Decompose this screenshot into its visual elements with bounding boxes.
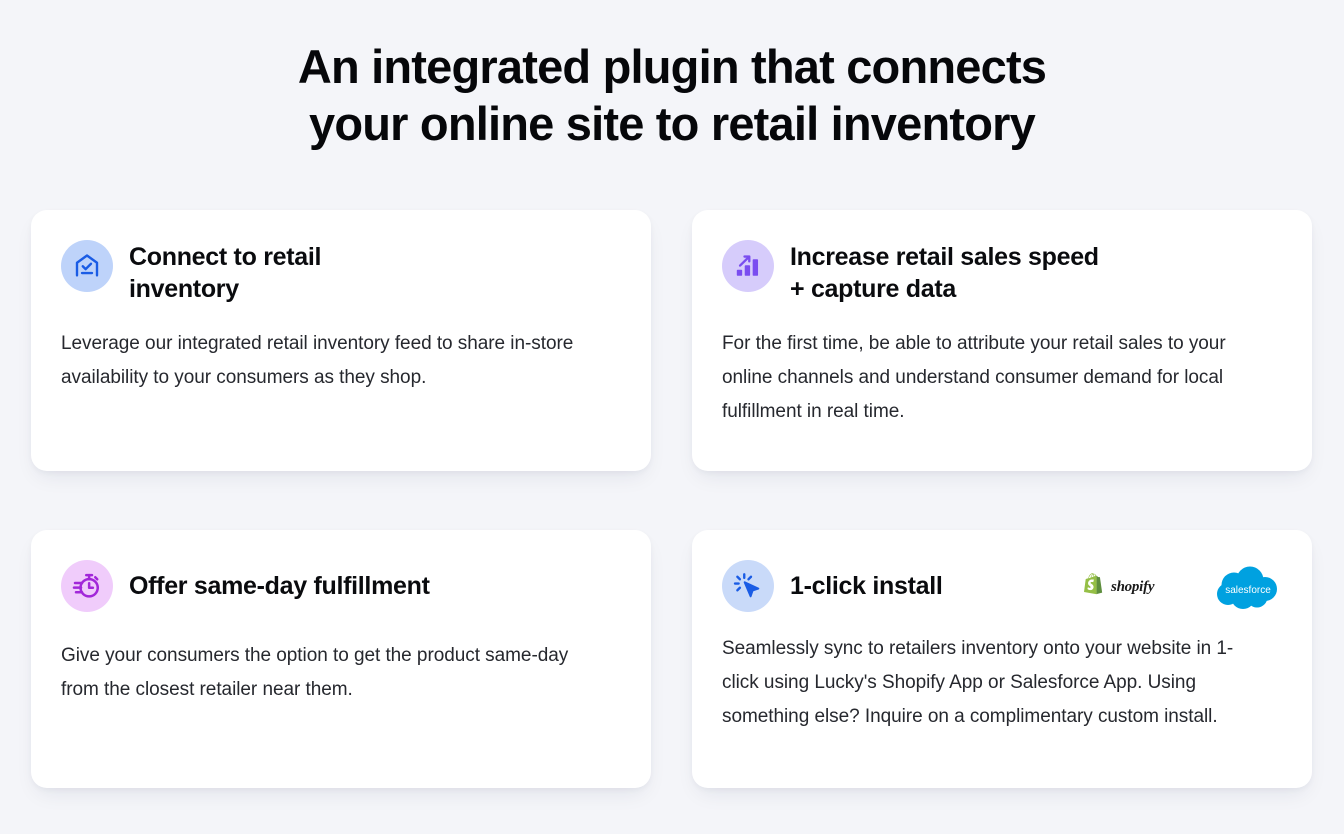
partner-logos: shopify [1080,565,1282,613]
page-title-line-2: your online site to retail inventory [0,95,1344,152]
stopwatch-speed-icon [61,560,113,612]
card-header: Offer same-day fulfillment [61,559,621,612]
feature-card-one-click-install[interactable]: 1-click install shopify [692,530,1312,788]
feature-card-connect-to-retail-inventory[interactable]: Connect to retail inventory Leverage our… [31,210,651,471]
card-title: Offer same-day fulfillment [129,559,430,602]
store-check-icon [61,240,113,292]
feature-card-grid: Connect to retail inventory Leverage our… [31,210,1312,788]
bar-chart-up-icon [722,240,774,292]
card-title: Connect to retail inventory [129,239,321,305]
page-title: An integrated plugin that connects your … [0,38,1344,152]
card-header: 1-click install shopify [722,559,1282,612]
feature-card-offer-same-day-fulfillment[interactable]: Offer same-day fulfillment Give your con… [31,530,651,788]
feature-section: An integrated plugin that connects your … [0,0,1344,834]
salesforce-logo: salesforce [1214,565,1282,613]
card-title: Increase retail sales speed + capture da… [790,239,1099,305]
card-description: For the first time, be able to attribute… [722,327,1262,429]
card-description: Seamlessly sync to retailers inventory o… [722,632,1262,734]
card-header: Increase retail sales speed + capture da… [722,239,1282,305]
card-title: 1-click install [790,559,943,602]
svg-text:shopify: shopify [1110,579,1155,595]
svg-text:salesforce: salesforce [1225,585,1271,596]
card-description: Leverage our integrated retail inventory… [61,327,601,395]
feature-card-increase-retail-sales-speed[interactable]: Increase retail sales speed + capture da… [692,210,1312,471]
shopify-logo: shopify [1080,571,1192,607]
card-header: Connect to retail inventory [61,239,621,305]
card-description: Give your consumers the option to get th… [61,639,601,707]
page-title-line-1: An integrated plugin that connects [0,38,1344,95]
click-cursor-icon [722,560,774,612]
